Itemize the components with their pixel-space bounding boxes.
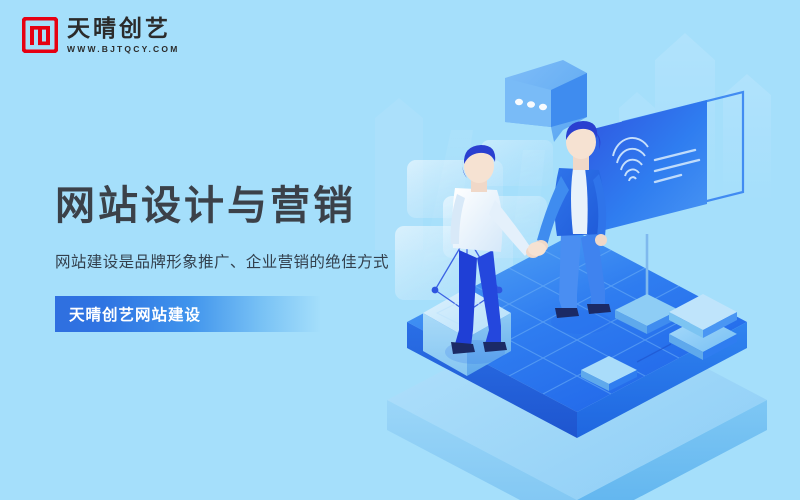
banner: 天晴创艺 WWW.BJTQCY.COM 网站设计与营销 网站建设是品牌形象推广、… bbox=[0, 0, 800, 500]
logo-text: 天晴创艺 WWW.BJTQCY.COM bbox=[67, 17, 180, 53]
hero-copy: 网站设计与营销 网站建设是品牌形象推广、企业营销的绝佳方式 天晴创艺网站建设 bbox=[55, 183, 389, 332]
site-logo[interactable]: 天晴创艺 WWW.BJTQCY.COM bbox=[22, 17, 180, 53]
handshake bbox=[528, 242, 546, 256]
logo-company-name: 天晴创艺 bbox=[67, 16, 180, 40]
page-title: 网站设计与营销 bbox=[55, 183, 389, 229]
hero-illustration bbox=[355, 0, 800, 500]
tianqing-logo-icon bbox=[22, 17, 58, 53]
cta-button[interactable]: 天晴创艺网站建设 bbox=[55, 296, 321, 332]
logo-url: WWW.BJTQCY.COM bbox=[67, 44, 180, 54]
page-subtitle: 网站建设是品牌形象推广、企业营销的绝佳方式 bbox=[55, 250, 389, 272]
